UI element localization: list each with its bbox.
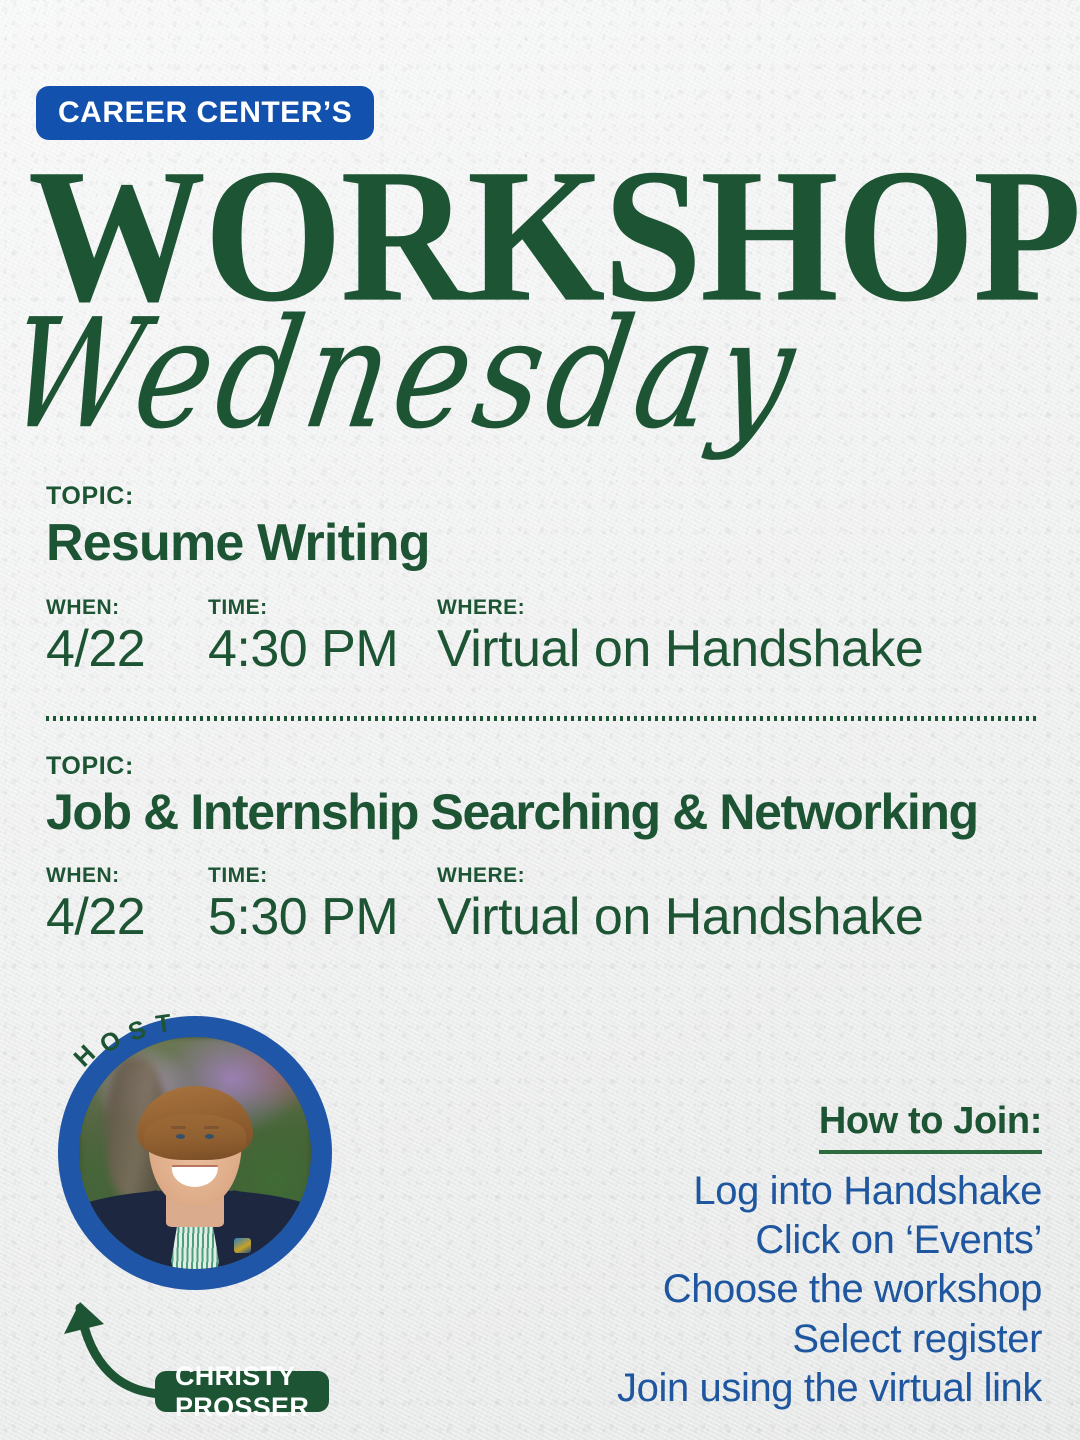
time-column-2: TIME: 5:30 PM bbox=[208, 864, 437, 945]
topic-title-2: Job & Internship Searching & Networking bbox=[46, 787, 1036, 838]
when-label-2: WHEN: bbox=[46, 864, 208, 888]
where-value-2: Virtual on Handshake bbox=[437, 890, 1036, 945]
where-label-2: WHERE: bbox=[437, 864, 1036, 888]
where-column-1: WHERE: Virtual on Handshake bbox=[437, 596, 1036, 677]
how-to-join-title: How to Join: bbox=[819, 1100, 1042, 1154]
host-name-pill: CHRISTY PROSSER bbox=[155, 1371, 329, 1412]
section-divider bbox=[46, 716, 1036, 721]
time-column-1: TIME: 4:30 PM bbox=[208, 596, 437, 677]
session-block-1: TOPIC: Resume Writing WHEN: 4/22 TIME: 4… bbox=[46, 482, 1036, 677]
how-to-join-section: How to Join: Log into Handshake Click on… bbox=[572, 1100, 1042, 1413]
workshop-wednesday-poster: CAREER CENTER’S WORKSHOP Wednesday TOPIC… bbox=[0, 0, 1080, 1440]
topic-label-1: TOPIC: bbox=[46, 482, 1036, 511]
time-value-1: 4:30 PM bbox=[208, 622, 437, 677]
list-item: Log into Handshake bbox=[572, 1167, 1042, 1216]
list-item: Click on ‘Events’ bbox=[572, 1216, 1042, 1265]
where-column-2: WHERE: Virtual on Handshake bbox=[437, 864, 1036, 945]
where-label-1: WHERE: bbox=[437, 596, 1036, 620]
host-avatar-photo bbox=[79, 1037, 311, 1269]
when-column-2: WHEN: 4/22 bbox=[46, 864, 208, 945]
host-name-label: CHRISTY PROSSER bbox=[175, 1361, 309, 1423]
list-item: Select register bbox=[572, 1315, 1042, 1364]
time-label-1: TIME: bbox=[208, 596, 437, 620]
time-label-2: TIME: bbox=[208, 864, 437, 888]
career-center-badge-label: CAREER CENTER’S bbox=[58, 96, 352, 130]
list-item: Choose the workshop bbox=[572, 1265, 1042, 1314]
topic-label-2: TOPIC: bbox=[46, 752, 1036, 781]
page-title-wednesday: Wednesday bbox=[0, 300, 1052, 451]
when-column-1: WHEN: 4/22 bbox=[46, 596, 208, 677]
where-value-1: Virtual on Handshake bbox=[437, 622, 1036, 677]
when-label-1: WHEN: bbox=[46, 596, 208, 620]
how-to-join-steps: Log into Handshake Click on ‘Events’ Cho… bbox=[572, 1167, 1042, 1413]
when-value-2: 4/22 bbox=[46, 890, 208, 945]
topic-title-1: Resume Writing bbox=[46, 517, 1036, 570]
photo-eyebrow-left bbox=[171, 1126, 186, 1129]
time-value-2: 5:30 PM bbox=[208, 890, 437, 945]
when-value-1: 4/22 bbox=[46, 622, 208, 677]
host-avatar bbox=[58, 1016, 332, 1290]
photo-lapel-pin bbox=[234, 1238, 251, 1253]
photo-eyebrow-right bbox=[204, 1126, 219, 1129]
session-meta-row-2: WHEN: 4/22 TIME: 5:30 PM WHERE: Virtual … bbox=[46, 864, 1036, 945]
session-meta-row-1: WHEN: 4/22 TIME: 4:30 PM WHERE: Virtual … bbox=[46, 596, 1036, 677]
session-block-2: TOPIC: Job & Internship Searching & Netw… bbox=[46, 752, 1036, 945]
list-item: Join using the virtual link bbox=[572, 1364, 1042, 1413]
